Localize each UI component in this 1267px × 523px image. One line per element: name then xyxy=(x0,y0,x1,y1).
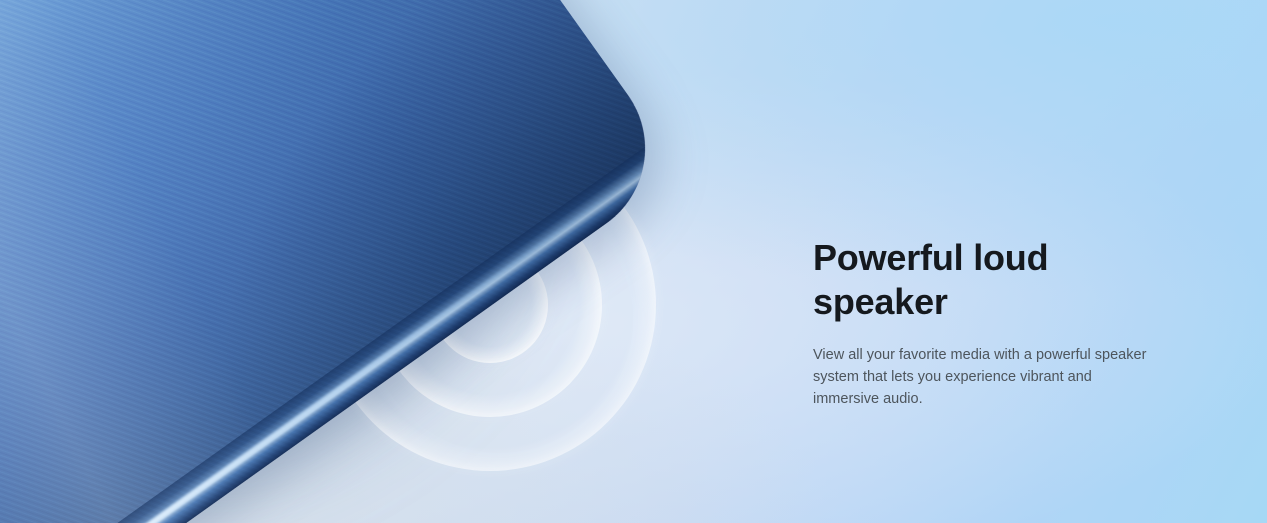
phone-shell xyxy=(0,0,681,523)
phone-corner-shading xyxy=(0,0,681,523)
product-feature-banner: Powerful loud speaker View all your favo… xyxy=(0,0,1267,523)
feature-headline: Powerful loud speaker xyxy=(813,236,1159,324)
feature-copy-block: Powerful loud speaker View all your favo… xyxy=(813,236,1159,410)
smartphone-device xyxy=(0,0,681,523)
feature-description: View all your favorite media with a powe… xyxy=(813,344,1159,410)
